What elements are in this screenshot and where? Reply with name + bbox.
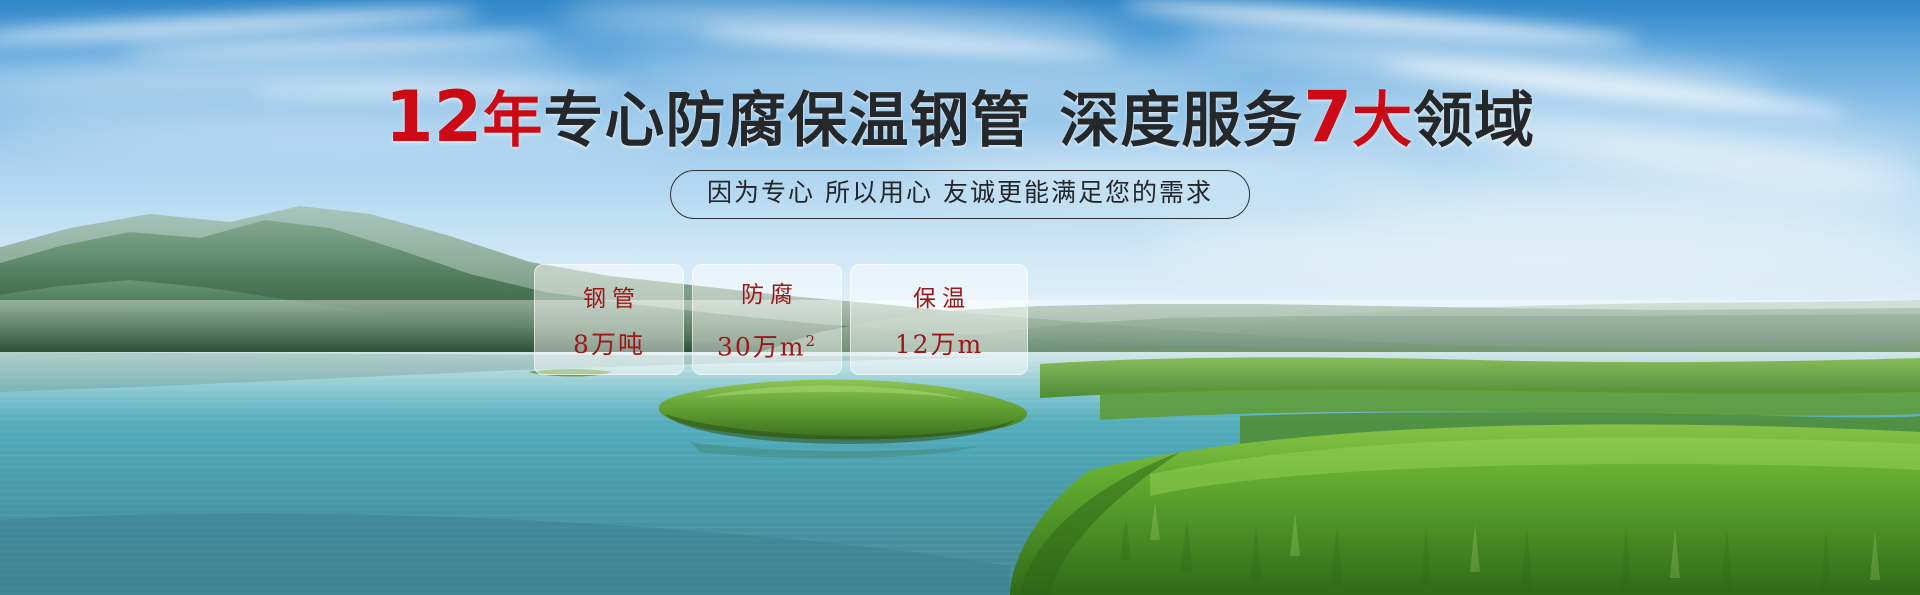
stat-value-text: 30万m — [717, 333, 806, 362]
stat-label: 保温 — [907, 284, 971, 314]
stat-card-steel-pipe: 钢管 8万吨 — [534, 264, 684, 375]
headline-fields-unit: 大 — [1352, 86, 1413, 156]
stat-value: 12万m — [895, 330, 984, 360]
hero-banner: 12年专心防腐保温钢管深度服务7大领域 因为专心 所以用心 友诚更能满足您的需求… — [0, 0, 1920, 595]
headline-years-number: 12 — [385, 76, 482, 158]
stat-card-anticorrosion: 防腐 30万m2 — [692, 264, 842, 375]
stat-value: 8万吨 — [573, 330, 645, 360]
stat-value-superscript: 2 — [805, 332, 817, 350]
headline-segment-main: 专心防腐保温钢管 — [543, 86, 1031, 156]
headline-years-unit: 年 — [482, 86, 543, 156]
stat-value-text: 12万m — [895, 330, 984, 359]
headline-segment-service: 深度服务 — [1059, 86, 1303, 156]
stat-value: 30万m2 — [717, 326, 817, 362]
stat-label: 防腐 — [735, 280, 799, 310]
stat-card-insulation: 保温 12万m — [850, 264, 1028, 375]
banner-content: 12年专心防腐保温钢管深度服务7大领域 因为专心 所以用心 友诚更能满足您的需求… — [0, 0, 1920, 595]
stat-label: 钢管 — [577, 284, 641, 314]
page-title: 12年专心防腐保温钢管深度服务7大领域 — [0, 84, 1920, 154]
stats-row: 钢管 8万吨 防腐 30万m2 保温 12万m — [534, 264, 1028, 375]
subtitle-pill: 因为专心 所以用心 友诚更能满足您的需求 — [670, 170, 1250, 219]
headline-segment-fields: 领域 — [1413, 86, 1535, 156]
stat-value-text: 8万吨 — [573, 330, 645, 359]
headline-fields-number: 7 — [1303, 76, 1352, 158]
